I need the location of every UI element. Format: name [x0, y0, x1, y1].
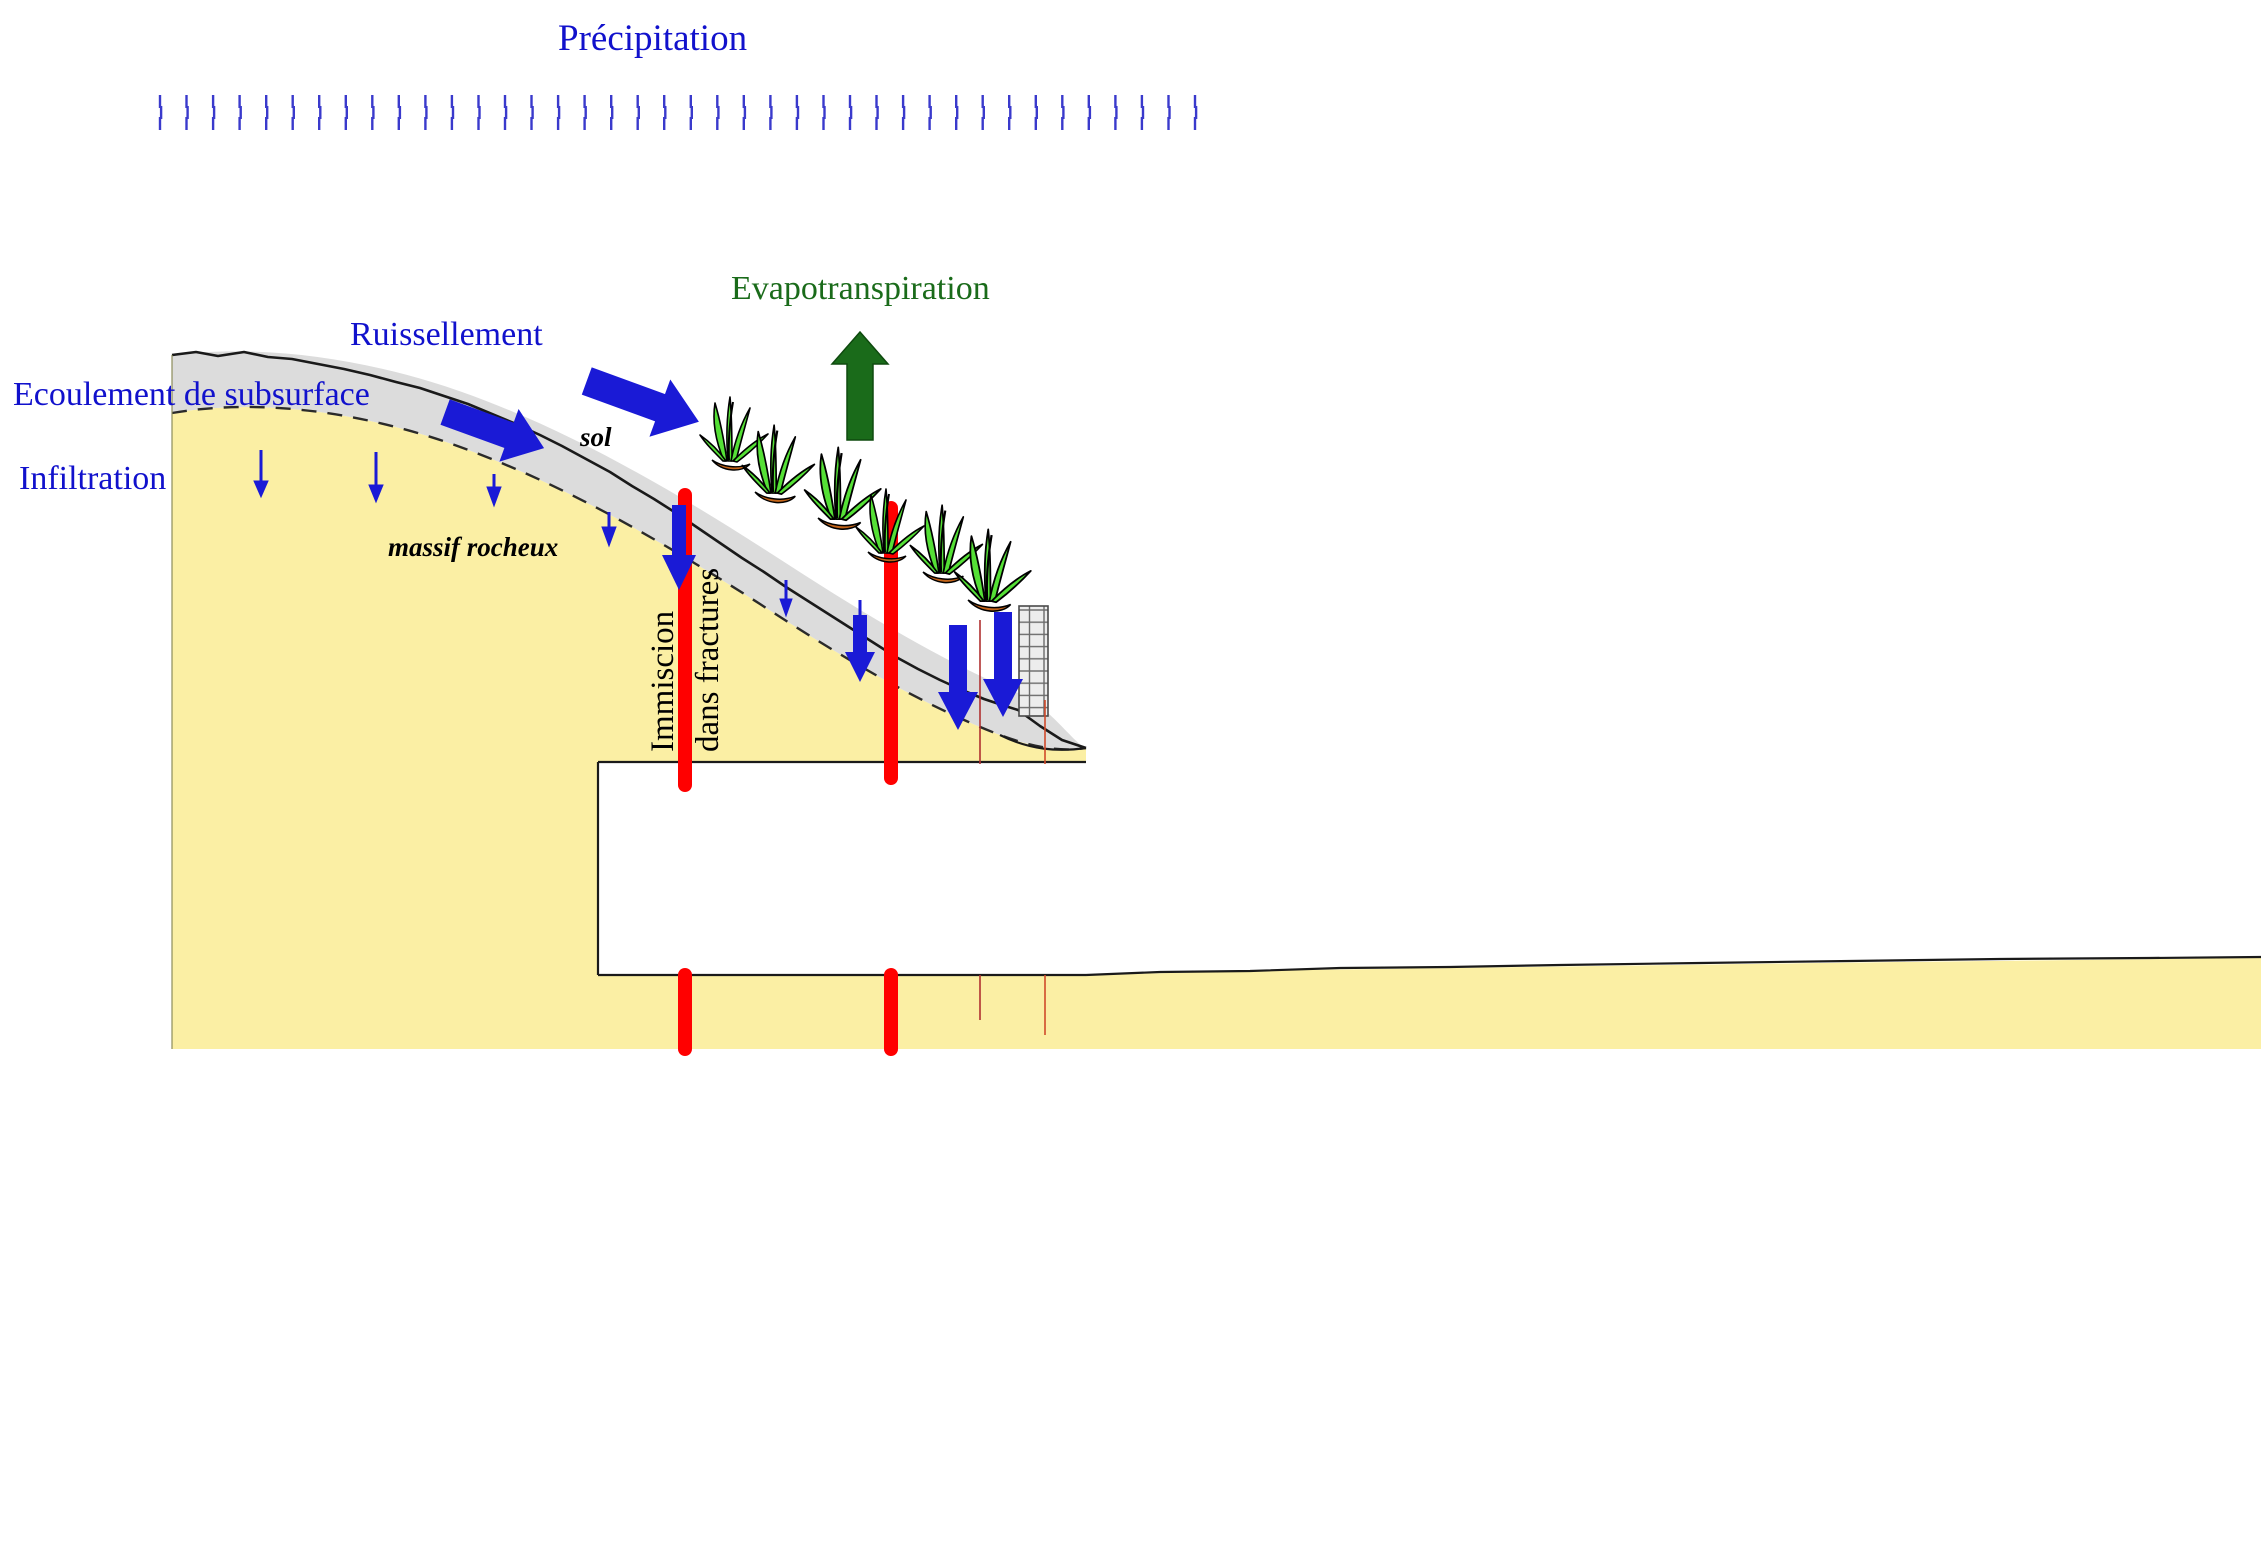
precipitation-rain-group — [160, 95, 1196, 130]
retaining-wall — [1019, 606, 1048, 716]
label-immiscion-line2: dans fractures — [690, 568, 727, 752]
label-ruissellement: Ruissellement — [350, 318, 543, 352]
grass-tuft-3 — [805, 447, 881, 529]
grass-tuft-6 — [955, 529, 1031, 611]
label-ecoulement-subsurface: Ecoulement de subsurface — [13, 378, 370, 412]
diagram-canvas: Précipitation Evapotranspiration Ruissel… — [0, 0, 2261, 1549]
excavation-cutout — [598, 762, 1086, 976]
label-massif-rocheux: massif rocheux — [388, 534, 558, 561]
label-evapotranspiration: Evapotranspiration — [731, 272, 990, 306]
grass-tuft-2 — [742, 425, 814, 502]
label-infiltration: Infiltration — [19, 462, 166, 496]
evapotranspiration-arrow — [832, 332, 888, 440]
hydrology-cross-section — [0, 0, 2261, 1549]
label-precipitation: Précipitation — [558, 20, 747, 57]
label-sol: sol — [580, 424, 612, 451]
label-immiscion-line1: Immiscion — [645, 611, 682, 752]
rock-mass-body — [172, 407, 2261, 1049]
